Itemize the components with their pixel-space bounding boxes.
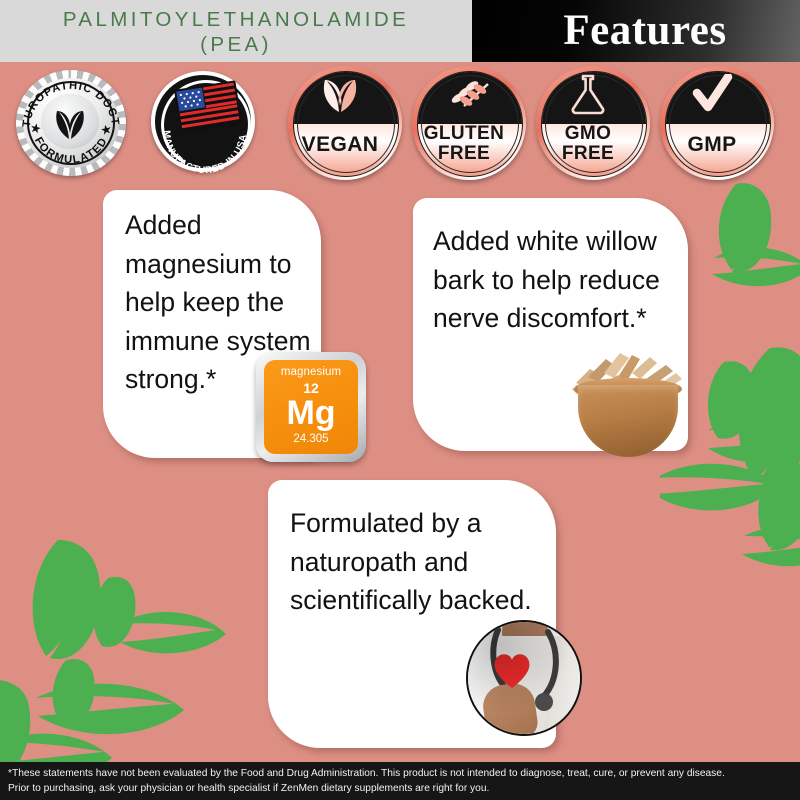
disclaimer-line-1: *These statements have not been evaluate… — [8, 767, 792, 782]
badge-naturopathic-doctor-formulated[interactable]: NATUROPATHIC DOCTOR ★ FORMULATED ★ — [12, 68, 130, 178]
leaf-pair-icon — [288, 70, 392, 118]
badge-label: VEGAN — [288, 118, 392, 170]
flask-icon — [536, 70, 640, 118]
badge-gmo-free[interactable]: GMO FREE — [536, 66, 650, 180]
element-atomic-mass: 24.305 — [293, 432, 328, 446]
leaf-decoration-icon — [0, 520, 288, 775]
photo-vignette — [468, 622, 580, 734]
page-title: PALMITOYLETHANOLAMIDE — [63, 7, 409, 33]
doctor-holding-heart-photo — [466, 620, 582, 736]
page-subtitle: (PEA) — [200, 33, 272, 57]
checkmark-icon — [660, 70, 764, 118]
product-title-block: PALMITOYLETHANOLAMIDE (PEA) — [0, 0, 472, 62]
badge-label-line1: GMP — [687, 134, 736, 155]
willow-bark-bowl-photo — [560, 345, 696, 461]
badge-gmp[interactable]: GMP — [660, 66, 774, 180]
wheat-icon — [412, 70, 516, 118]
element-tile-face: magnesium 12 Mg 24.305 — [264, 360, 358, 454]
badge-vegan[interactable]: VEGAN — [288, 66, 402, 180]
element-symbol: Mg — [286, 396, 335, 430]
svg-text:NATUROPATHIC DOCTOR: NATUROPATHIC DOCTOR — [12, 68, 121, 128]
badge-label-line1: VEGAN — [302, 134, 379, 155]
certification-badge-row: NATUROPATHIC DOCTOR ★ FORMULATED ★ — [0, 62, 800, 180]
badge-label: GMO FREE — [536, 118, 640, 170]
magnesium-element-tile: magnesium 12 Mg 24.305 — [256, 352, 366, 462]
badge-label-line2: FREE — [562, 144, 614, 164]
element-name: magnesium — [281, 365, 341, 379]
disclaimer-footer: *These statements have not been evaluate… — [0, 762, 800, 800]
feature-card-text: Formulated by a naturopath and scientifi… — [290, 504, 556, 620]
badge-label: GLUTEN FREE — [412, 118, 516, 170]
section-title: Features — [563, 9, 726, 53]
badge-manufactured-in-usa[interactable]: MANUFACTURED IN USA — [148, 68, 260, 178]
disclaimer-line-2: Prior to purchasing, ask your physician … — [8, 782, 792, 797]
bowl-body — [578, 385, 678, 457]
badge-label-line2: FREE — [438, 144, 490, 164]
badge-label-line1: GLUTEN — [424, 124, 505, 144]
badge-label: GMP — [660, 118, 764, 170]
badge-gluten-free[interactable]: GLUTEN FREE — [412, 66, 526, 180]
leaf-decoration-icon — [706, 180, 800, 305]
badge-label-line1: GMO — [565, 124, 612, 144]
svg-text:MANUFACTURED IN USA: MANUFACTURED IN USA — [161, 130, 249, 176]
seal-curved-text: NATUROPATHIC DOCTOR ★ FORMULATED ★ — [12, 68, 130, 178]
page-header: PALMITOYLETHANOLAMIDE (PEA) Features — [0, 0, 800, 62]
features-banner: Features — [472, 0, 800, 62]
usa-flag-icon: MANUFACTURED IN USA — [148, 68, 260, 178]
svg-text:★ FORMULATED ★: ★ FORMULATED ★ — [29, 123, 114, 166]
infographic-page: PALMITOYLETHANOLAMIDE (PEA) Features — [0, 0, 800, 800]
feature-card-text: Added white willow bark to help reduce n… — [433, 222, 688, 338]
